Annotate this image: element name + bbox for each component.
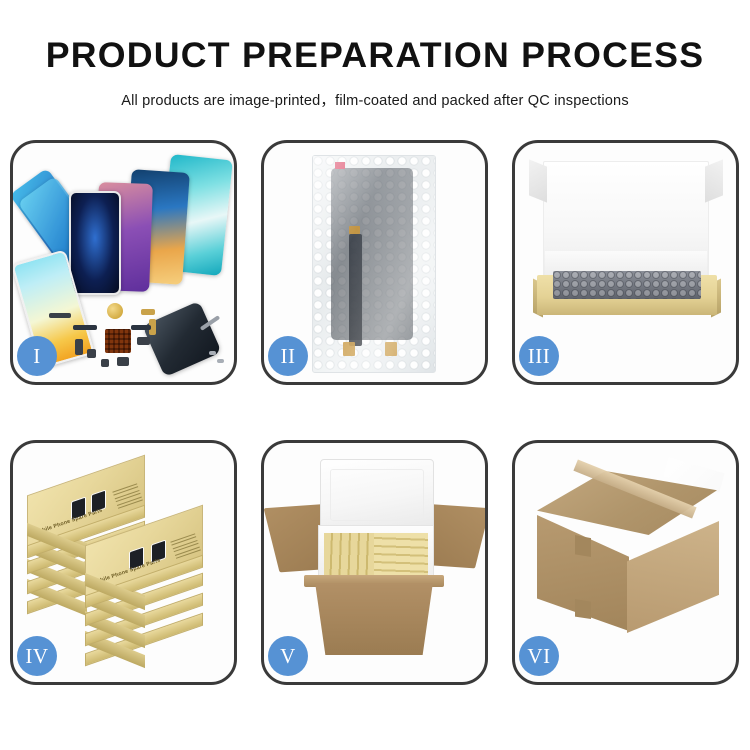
bubble-wrapped-contents bbox=[553, 271, 701, 299]
small-part-c bbox=[137, 337, 150, 345]
gold-box-stack: Mobile Phone Spare Parts bbox=[21, 463, 233, 669]
step-badge-5: V bbox=[268, 636, 308, 676]
process-step-panel-3[interactable]: III bbox=[512, 140, 739, 385]
screw-part-a bbox=[209, 351, 216, 355]
small-part-a bbox=[75, 339, 83, 355]
page-subtitle: All products are image-printed，film-coat… bbox=[0, 89, 750, 110]
bubble-wrap-bag bbox=[312, 155, 436, 373]
carton-hand-hole-top bbox=[575, 535, 591, 557]
carton-side-face bbox=[627, 521, 719, 633]
step-badge-1: I bbox=[17, 336, 57, 376]
foam-box-lid bbox=[320, 459, 434, 531]
process-step-panel-4[interactable]: Mobile Phone Spare Parts bbox=[10, 440, 237, 685]
bag-sheen bbox=[313, 156, 435, 372]
step-badge-6: VI bbox=[519, 636, 559, 676]
header: PRODUCT PREPARATION PROCESS All products… bbox=[0, 0, 750, 110]
step-badge-3: III bbox=[519, 336, 559, 376]
process-steps-grid: I II bbox=[10, 140, 740, 685]
process-step-panel-5[interactable]: V bbox=[261, 440, 488, 685]
carton-body bbox=[310, 583, 438, 655]
phone-dark-blue bbox=[69, 191, 121, 295]
process-step-panel-6[interactable]: VI bbox=[512, 440, 739, 685]
flex-cable-d bbox=[131, 325, 151, 330]
camera-module-icon bbox=[107, 303, 123, 319]
speaker-part bbox=[49, 313, 71, 318]
small-part-e bbox=[101, 359, 109, 367]
small-part-b bbox=[87, 349, 96, 358]
small-part-d bbox=[117, 357, 129, 366]
step-badge-4: IV bbox=[17, 636, 57, 676]
page-title: PRODUCT PREPARATION PROCESS bbox=[0, 38, 750, 73]
carton-hand-hole-bottom bbox=[575, 599, 591, 619]
screw-part-b bbox=[217, 359, 224, 363]
process-step-panel-1[interactable]: I bbox=[10, 140, 237, 385]
flex-cable-a bbox=[141, 309, 155, 315]
chip-grid-icon bbox=[105, 329, 131, 353]
step-badge-2: II bbox=[268, 336, 308, 376]
box-lid-flap-right bbox=[705, 159, 723, 202]
box-lid-flap-left bbox=[529, 159, 547, 202]
infographic-root: PRODUCT PREPARATION PROCESS All products… bbox=[0, 0, 750, 750]
process-step-panel-2[interactable]: II bbox=[261, 140, 488, 385]
gold-boxes-row-b bbox=[374, 533, 428, 577]
flex-cable-c bbox=[73, 325, 97, 330]
